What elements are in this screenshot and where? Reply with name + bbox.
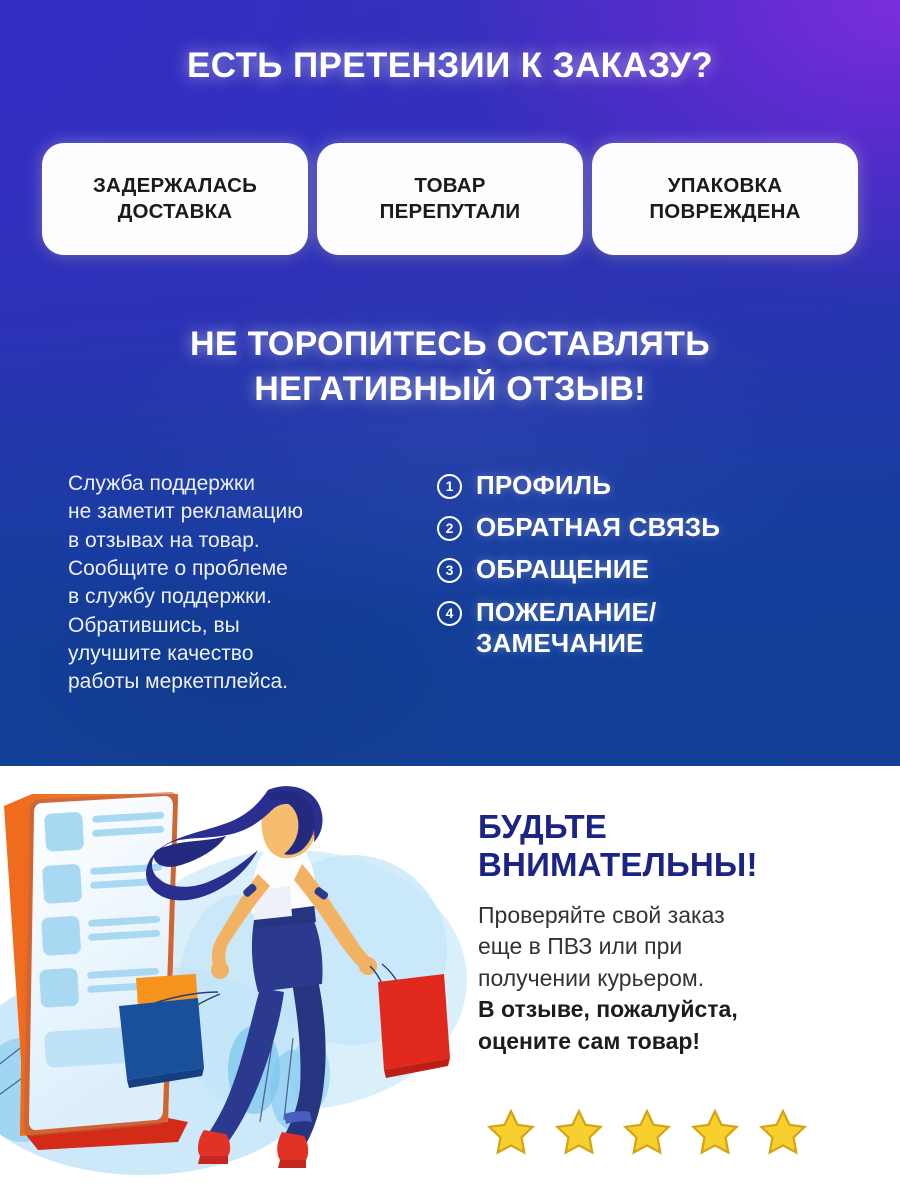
rating-stars <box>484 1106 824 1160</box>
warning-heading: НЕ ТОРОПИТЕСЬ ОСТАВЛЯТЬ НЕГАТИВНЫЙ ОТЗЫВ… <box>0 322 900 412</box>
step-label-1: ПРОФИЛЬ <box>476 470 611 501</box>
star-icon-4 <box>688 1106 742 1160</box>
bottom-heading: БУДЬТЕ ВНИМАТЕЛЬНЫ! <box>478 808 878 885</box>
step-item-2: 2 ОБРАТНАЯ СВЯЗЬ <box>437 512 867 543</box>
reason-cards: ЗАДЕРЖАЛАСЬ ДОСТАВКА ТОВАР ПЕРЕПУТАЛИ УП… <box>42 143 858 255</box>
step-number-icon-3: 3 <box>437 558 462 583</box>
promo-banner: ЕСТЬ ПРЕТЕНЗИИ К ЗАКАЗУ? ЗАДЕРЖАЛАСЬ ДОС… <box>0 0 900 1200</box>
step-number-icon-1: 1 <box>437 474 462 499</box>
step-item-3: 3 ОБРАЩЕНИЕ <box>437 554 867 585</box>
step-number-icon-4: 4 <box>437 601 462 626</box>
star-icon-1 <box>484 1106 538 1160</box>
steps-list: 1 ПРОФИЛЬ 2 ОБРАТНАЯ СВЯЗЬ 3 ОБРАЩЕНИЕ 4… <box>437 470 867 670</box>
step-label-2: ОБРАТНАЯ СВЯЗЬ <box>476 512 720 543</box>
phone-mockup <box>4 792 188 1150</box>
support-paragraph: Служба поддержки не заметит рекламацию в… <box>68 470 398 697</box>
star-icon-5 <box>756 1106 810 1160</box>
hero-title: ЕСТЬ ПРЕТЕНЗИИ К ЗАКАЗУ? <box>0 46 900 86</box>
bottom-copy-block: БУДЬТЕ ВНИМАТЕЛЬНЫ! Проверяйте свой зака… <box>478 808 878 1057</box>
step-item-1: 1 ПРОФИЛЬ <box>437 470 867 501</box>
bottom-body-strong-text: В отзыве, пожалуйста, оцените сам товар! <box>478 994 878 1057</box>
shopper-illustration <box>0 770 472 1200</box>
bottom-body-text: Проверяйте свой заказ еще в ПВЗ или при … <box>478 900 878 995</box>
hero-panel: ЕСТЬ ПРЕТЕНЗИИ К ЗАКАЗУ? ЗАДЕРЖАЛАСЬ ДОС… <box>0 0 900 766</box>
step-label-3: ОБРАЩЕНИЕ <box>476 554 649 585</box>
step-number-icon-2: 2 <box>437 516 462 541</box>
step-item-4: 4 ПОЖЕЛАНИЕ/ ЗАМЕЧАНИЕ <box>437 597 867 659</box>
step-label-4: ПОЖЕЛАНИЕ/ ЗАМЕЧАНИЕ <box>476 597 656 659</box>
star-icon-3 <box>620 1106 674 1160</box>
card-damaged-package[interactable]: УПАКОВКА ПОВРЕЖДЕНА <box>592 143 858 255</box>
star-icon-2 <box>552 1106 606 1160</box>
card-wrong-item[interactable]: ТОВАР ПЕРЕПУТАЛИ <box>317 143 583 255</box>
card-delivery-delayed[interactable]: ЗАДЕРЖАЛАСЬ ДОСТАВКА <box>42 143 308 255</box>
